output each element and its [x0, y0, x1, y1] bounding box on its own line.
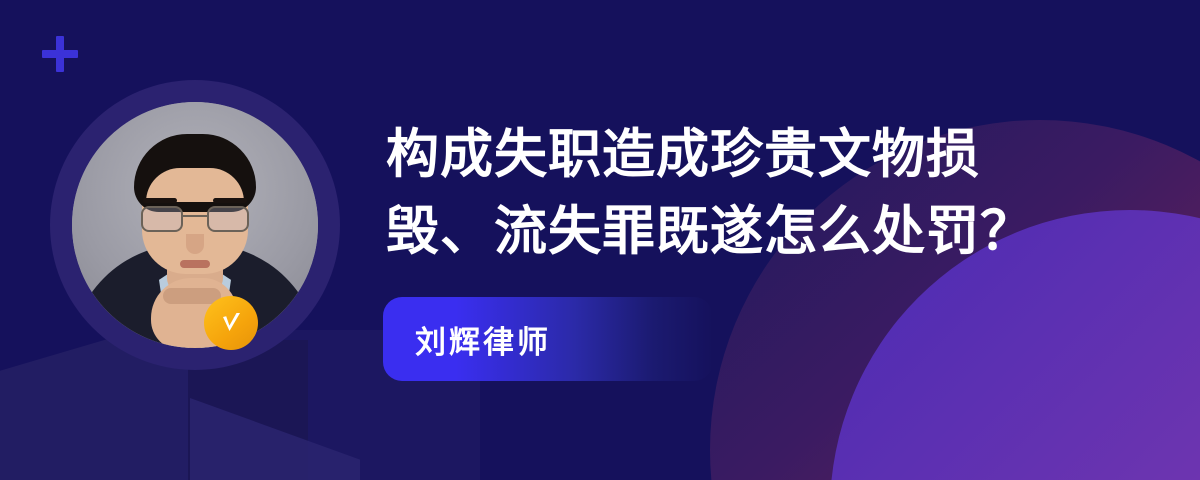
avatar-nose — [186, 234, 204, 254]
verified-v-icon — [204, 296, 258, 350]
avatar-glasses — [141, 206, 249, 232]
lawyer-name-badge[interactable]: 刘辉律师 — [383, 297, 713, 381]
avatar-eyebrow-left — [143, 198, 177, 203]
avatar-glasses-bridge — [183, 215, 207, 217]
avatar-mouth — [180, 260, 210, 268]
avatar-eyebrow-right — [213, 198, 247, 203]
plus-icon — [42, 36, 78, 72]
avatar-glasses-lens-right — [207, 206, 249, 232]
headline-block: 构成失职造成珍贵文物损 毁、流失罪既遂怎么处罚？ — [386, 116, 1126, 271]
avatar-glasses-lens-left — [141, 206, 183, 232]
lawyer-question-banner: 构成失职造成珍贵文物损 毁、流失罪既遂怎么处罚？ 刘辉律师 — [0, 0, 1200, 480]
lawyer-avatar — [72, 102, 318, 348]
lawyer-name-label: 刘辉律师 — [383, 317, 551, 362]
avatar — [50, 80, 340, 370]
page-title: 构成失职造成珍贵文物损 毁、流失罪既遂怎么处罚？ — [386, 116, 1126, 271]
